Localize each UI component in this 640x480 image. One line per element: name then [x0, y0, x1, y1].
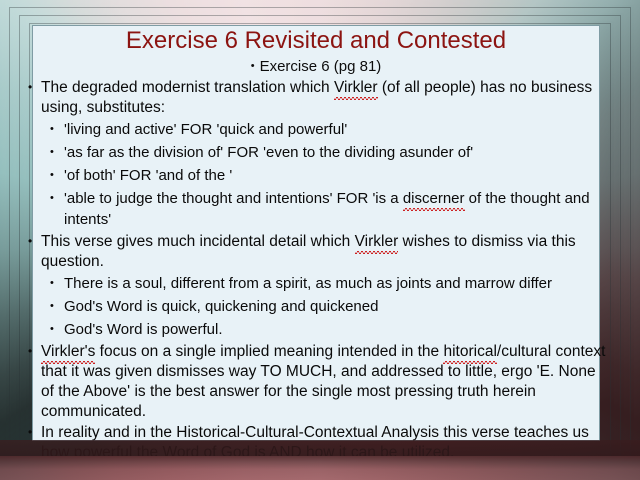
bullet-icon: •: [50, 142, 54, 163]
bullet-item-text: God's Word is powerful.: [64, 321, 222, 338]
presentation-slide: Exercise 6 Revisited and Contested •Exer…: [0, 0, 640, 480]
bullet-item-text: 'of both' FOR 'and of the ': [64, 167, 232, 184]
bullet-item-text: This verse gives much incidental detail …: [41, 233, 576, 270]
bullet-item-text: There is a soul, different from a spirit…: [64, 275, 552, 292]
text-run: There is a soul, different from a spirit…: [64, 275, 552, 292]
spellcheck-word: Virkler's: [41, 342, 95, 362]
bullet-icon: •: [251, 60, 255, 72]
text-run: 'able to judge the thought and intention…: [64, 190, 403, 207]
bullet-icon: •: [50, 119, 54, 140]
spellcheck-word: Virkler: [334, 78, 378, 98]
text-run: 'living and active' FOR 'quick and power…: [64, 121, 347, 138]
text-run: focus on a single implied meaning intend…: [95, 343, 443, 360]
bullet-icon: •: [28, 77, 32, 97]
bullet-icon: •: [50, 165, 54, 186]
bullet-icon: •: [50, 188, 54, 209]
bullet-item-this-verse: •This verse gives much incidental detail…: [26, 232, 610, 272]
bullet-item-text: 'living and active' FOR 'quick and power…: [64, 121, 347, 138]
bullet-item-in-reality: •In reality and in the Historical-Cultur…: [26, 423, 610, 463]
text-run: God's Word is powerful.: [64, 321, 222, 338]
text-run: 'of both' FOR 'and of the ': [64, 167, 232, 184]
spellcheck-word: hitorical: [443, 342, 496, 362]
bullet-icon: •: [28, 422, 32, 442]
text-run: God's Word is quick, quickening and quic…: [64, 298, 378, 315]
bullet-item-text: 'able to judge the thought and intention…: [64, 190, 590, 228]
bullet-item-text: Virkler's focus on a single implied mean…: [41, 343, 605, 420]
slide-body: •The degraded modernist translation whic…: [26, 78, 610, 464]
bullet-item-text: God's Word is quick, quickening and quic…: [64, 298, 378, 315]
slide-text-layer: Exercise 6 Revisited and Contested •Exer…: [0, 0, 640, 480]
bullet-item-sub-quickening: • God's Word is quick, quickening and qu…: [26, 296, 610, 317]
text-run: In reality and in the Historical-Cultura…: [41, 424, 589, 461]
slide-subtitle: •Exercise 6 (pg 81): [33, 56, 599, 77]
bullet-icon: •: [50, 296, 54, 317]
bullet-item-sub-able-to-judge: •'able to judge the thought and intentio…: [26, 188, 610, 230]
bullet-item-text: The degraded modernist translation which…: [41, 79, 592, 116]
text-run: This verse gives much incidental detail …: [41, 233, 355, 250]
bullet-item-intro: •The degraded modernist translation whic…: [26, 78, 610, 118]
slide-subtitle-label: Exercise 6 (pg 81): [260, 58, 382, 75]
bullet-icon: •: [50, 319, 54, 340]
spellcheck-word: Virkler: [355, 232, 399, 252]
slide-title: Exercise 6 Revisited and Contested: [33, 27, 599, 55]
bullet-item-text: 'as far as the division of' FOR 'even to…: [64, 144, 473, 161]
text-run: The degraded modernist translation which: [41, 79, 334, 96]
bullet-icon: •: [28, 231, 32, 251]
bullet-item-text: In reality and in the Historical-Cultura…: [41, 424, 589, 461]
bullet-icon: •: [28, 341, 32, 361]
bullet-item-sub-living-active: • 'living and active' FOR 'quick and pow…: [26, 119, 610, 140]
text-run: 'as far as the division of' FOR 'even to…: [64, 144, 473, 161]
bullet-item-virklers-focus: •Virkler's focus on a single implied mea…: [26, 342, 610, 422]
bullet-item-sub-soul-spirit: •There is a soul, different from a spiri…: [26, 273, 610, 294]
spellcheck-word: discerner: [403, 188, 465, 209]
bullet-icon: •: [50, 273, 54, 294]
bullet-item-sub-powerful: •God's Word is powerful.: [26, 319, 610, 340]
bullet-item-sub-as-far-as: •'as far as the division of' FOR 'even t…: [26, 142, 610, 163]
bullet-item-sub-of-both: •'of both' FOR 'and of the ': [26, 165, 610, 186]
